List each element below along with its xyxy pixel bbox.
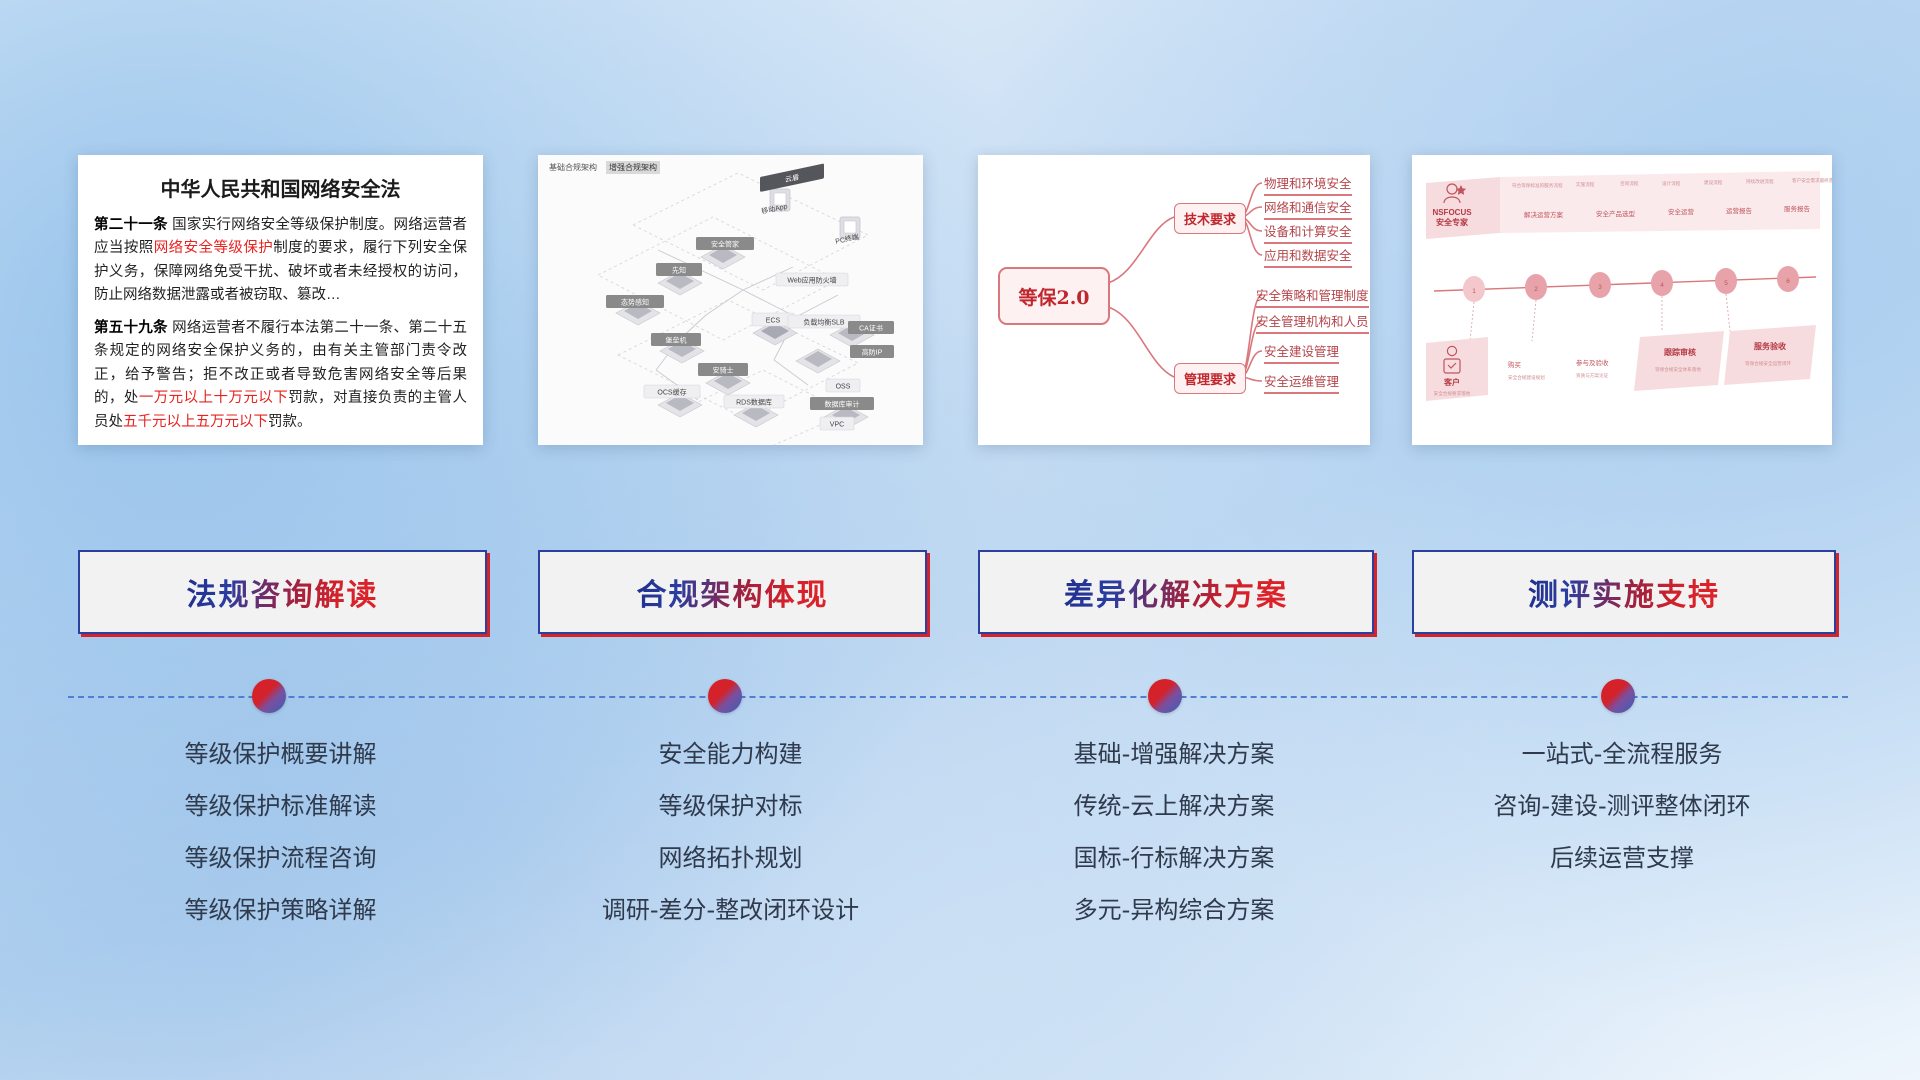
svg-text:5: 5 (1724, 280, 1728, 287)
svg-text:安全合规建设规划: 安全合规建设规划 (1508, 374, 1545, 381)
svg-text:安全合规要求落地: 安全合规要求落地 (1434, 390, 1471, 397)
card-mindmap-dengbao: 等保2.0 技术要求 管理要求 物理和环境安全 网络和通信安全 设备和计算安全 … (978, 155, 1370, 445)
mindmap-leaf-mgmt-4: 安全运维管理 (1264, 371, 1339, 394)
svg-text:RDS数据库: RDS数据库 (736, 397, 772, 406)
pill-label-3: 差异化解决方案 (1064, 570, 1288, 614)
roadmap-bottom-left-items: 购买 安全合规建设规划 参与及验收 资质与方案论证 (1508, 358, 1609, 381)
svg-text:客户: 客户 (1443, 377, 1460, 387)
list-item: 后续运营支撑 (1412, 846, 1832, 870)
card-assessment-roadmap: NSFOCUS 安全专家 符合等保标准的服务流程 实施流程 咨询流程 设计流程 … (1412, 155, 1832, 445)
svg-text:安全专家: 安全专家 (1436, 217, 1469, 227)
list-column-1: 等级保护概要讲解 等级保护标准解读 等级保护流程咨询 等级保护策略详解 (78, 742, 483, 950)
list-item: 多元-异构综合方案 (978, 898, 1370, 922)
roadmap-canvas: NSFOCUS 安全专家 符合等保标准的服务流程 实施流程 咨询流程 设计流程 … (1412, 155, 1832, 445)
timeline-dot-2 (708, 679, 742, 713)
svg-text:数据库审计: 数据库审计 (825, 399, 860, 408)
article-59-text-3: 罚款。 (268, 414, 312, 430)
svg-text:3: 3 (1598, 284, 1602, 291)
list-item: 调研-差分-整改闭环设计 (538, 898, 923, 922)
svg-text:堡垒机: 堡垒机 (666, 335, 687, 344)
pill-regulation-consulting[interactable]: 法规咨询解读 (78, 550, 487, 634)
mindmap-leaf-mgmt-1: 安全策略和管理制度 (1256, 285, 1369, 308)
pill-label-4: 测评实施支持 (1528, 570, 1720, 614)
svg-text:安全产品选型: 安全产品选型 (1596, 209, 1636, 218)
svg-text:服务验收: 服务验收 (1754, 341, 1786, 351)
svg-text:ECS: ECS (766, 317, 781, 324)
svg-text:1: 1 (1472, 288, 1476, 295)
article-21-highlight: 网络安全等级保护 (154, 240, 274, 256)
mindmap-leaf-tech-4: 应用和数据安全 (1264, 245, 1352, 268)
mindmap-leaf-mgmt-3: 安全建设管理 (1264, 341, 1339, 364)
svg-text:OCS缓存: OCS缓存 (657, 387, 686, 396)
list-item: 基础-增强解决方案 (978, 742, 1370, 766)
svg-text:安骑士: 安骑士 (713, 365, 734, 374)
svg-text:态势感知: 态势感知 (621, 297, 649, 306)
svg-text:符合等保标准的服务流程: 符合等保标准的服务流程 (1512, 182, 1563, 189)
card-compliance-architecture: 基础合规架构增强合规架构 (538, 155, 923, 445)
card-row: 中华人民共和国网络安全法 第二十一条 国家实行网络安全等级保护制度。网络运营者应… (0, 0, 1920, 300)
list-item: 等级保护概要讲解 (78, 742, 483, 766)
law-title: 中华人民共和国网络安全法 (94, 173, 467, 202)
article-59-highlight-1: 一万元以上十万元以下 (139, 390, 288, 406)
svg-text:服务报告: 服务报告 (1784, 204, 1811, 213)
svg-text:咨询流程: 咨询流程 (1620, 180, 1639, 187)
list-item: 安全能力构建 (538, 742, 923, 766)
list-item: 等级保护标准解读 (78, 794, 483, 818)
architecture-canvas: 态势感知 先知 安全管家 堡垒机 安骑士 ECS OCS缓存 RDS数据库 数据… (538, 155, 923, 445)
mindmap-branch-technical: 技术要求 (1174, 203, 1246, 234)
svg-text:安全运营: 安全运营 (1668, 207, 1695, 216)
svg-text:OSS: OSS (836, 383, 851, 390)
svg-text:高防IP: 高防IP (862, 347, 883, 356)
timeline-dashed-line (68, 696, 1848, 698)
card-cybersecurity-law: 中华人民共和国网络安全法 第二十一条 国家实行网络安全等级保护制度。网络运营者应… (78, 155, 483, 445)
svg-text:CA证书: CA证书 (859, 323, 883, 332)
timeline-dot-3 (1148, 679, 1182, 713)
list-column-3: 基础-增强解决方案 传统-云上解决方案 国标-行标解决方案 多元-异构综合方案 (978, 742, 1370, 950)
list-item: 传统-云上解决方案 (978, 794, 1370, 818)
svg-text:2: 2 (1534, 286, 1538, 293)
svg-text:4: 4 (1660, 282, 1664, 289)
svg-text:6: 6 (1786, 278, 1790, 285)
svg-text:负载均衡SLB: 负载均衡SLB (803, 317, 845, 326)
svg-text:资质与方案论证: 资质与方案论证 (1576, 372, 1609, 379)
node-label-group: 态势感知 先知 安全管家 堡垒机 安骑士 ECS OCS缓存 RDS数据库 数据… (606, 163, 894, 430)
list-column-4: 一站式-全流程服务 咨询-建设-测评整体闭环 后续运营支撑 (1412, 742, 1832, 898)
svg-text:参与及验收: 参与及验收 (1576, 358, 1609, 367)
svg-text:先知: 先知 (672, 265, 686, 274)
svg-text:VPC: VPC (830, 421, 844, 428)
svg-text:跟踪审核: 跟踪审核 (1664, 347, 1696, 357)
list-item: 网络拓扑规划 (538, 846, 923, 870)
svg-text:运营报告: 运营报告 (1726, 206, 1753, 215)
timeline-dot-4 (1601, 679, 1635, 713)
law-article-59: 第五十九条 网络运营者不履行本法第二十一条、第二十五条规定的网络安全保护义务的，… (94, 317, 467, 434)
roadmap-diagram: NSFOCUS 安全专家 符合等保标准的服务流程 实施流程 咨询流程 设计流程 … (1412, 155, 1832, 445)
list-item: 一站式-全流程服务 (1412, 742, 1832, 766)
svg-text:设计流程: 设计流程 (1662, 180, 1681, 187)
mindmap-leaf-mgmt-2: 安全管理机构和人员 (1256, 311, 1369, 334)
timeline-dot-1 (252, 679, 286, 713)
mindmap-leaf-tech-2: 网络和通信安全 (1264, 197, 1352, 220)
pill-label-2: 合规架构体现 (637, 570, 829, 614)
svg-text:购买: 购买 (1508, 360, 1522, 369)
pill-differentiated-solution[interactable]: 差异化解决方案 (978, 550, 1374, 634)
pill-label-1: 法规咨询解读 (187, 570, 379, 614)
law-body: 中华人民共和国网络安全法 第二十一条 国家实行网络安全等级保护制度。网络运营者应… (78, 155, 483, 445)
architecture-diagram: 基础合规架构增强合规架构 (538, 155, 923, 445)
svg-text:安全管家: 安全管家 (711, 239, 739, 248)
mindmap-root: 等保2.0 (998, 267, 1110, 325)
svg-text:Web应用防火墙: Web应用防火墙 (787, 275, 836, 284)
mindmap-leaf-tech-1: 物理和环境安全 (1264, 173, 1352, 196)
infographic-root: 中华人民共和国网络安全法 第二十一条 国家实行网络安全等级保护制度。网络运营者应… (0, 0, 1920, 1080)
pill-compliance-architecture[interactable]: 合规架构体现 (538, 550, 927, 634)
svg-text:NSFOCUS: NSFOCUS (1432, 208, 1472, 217)
mindmap: 等保2.0 技术要求 管理要求 物理和环境安全 网络和通信安全 设备和计算安全 … (978, 155, 1370, 445)
law-article-21: 第二十一条 国家实行网络安全等级保护制度。网络运营者应当按照网络安全等级保护制度… (94, 214, 467, 308)
svg-text:等保合规安全运营闭环: 等保合规安全运营闭环 (1745, 360, 1791, 367)
pill-assessment-support[interactable]: 测评实施支持 (1412, 550, 1836, 634)
mindmap-branch-management: 管理要求 (1174, 363, 1246, 394)
list-item: 等级保护流程咨询 (78, 846, 483, 870)
svg-text:实施流程: 实施流程 (1576, 181, 1595, 188)
list-column-2: 安全能力构建 等级保护对标 网络拓扑规划 调研-差分-整改闭环设计 (538, 742, 923, 950)
svg-text:客户安全需求最终落地实现: 客户安全需求最终落地实现 (1792, 177, 1832, 184)
article-21-label: 第二十一条 (94, 217, 168, 233)
article-59-label: 第五十九条 (94, 320, 168, 336)
list-item: 国标-行标解决方案 (978, 846, 1370, 870)
article-59-highlight-2: 五千元以上五万元以下 (123, 414, 268, 430)
svg-text:建设流程: 建设流程 (1704, 179, 1723, 186)
list-item: 咨询-建设-测评整体闭环 (1412, 794, 1832, 818)
svg-text:解决运营方案: 解决运营方案 (1524, 210, 1564, 219)
list-item: 等级保护策略详解 (78, 898, 483, 922)
svg-text:等保合规安全体系落地: 等保合规安全体系落地 (1655, 366, 1701, 373)
mindmap-leaf-tech-3: 设备和计算安全 (1264, 221, 1352, 244)
svg-text:持续改进流程: 持续改进流程 (1746, 178, 1774, 185)
list-item: 等级保护对标 (538, 794, 923, 818)
